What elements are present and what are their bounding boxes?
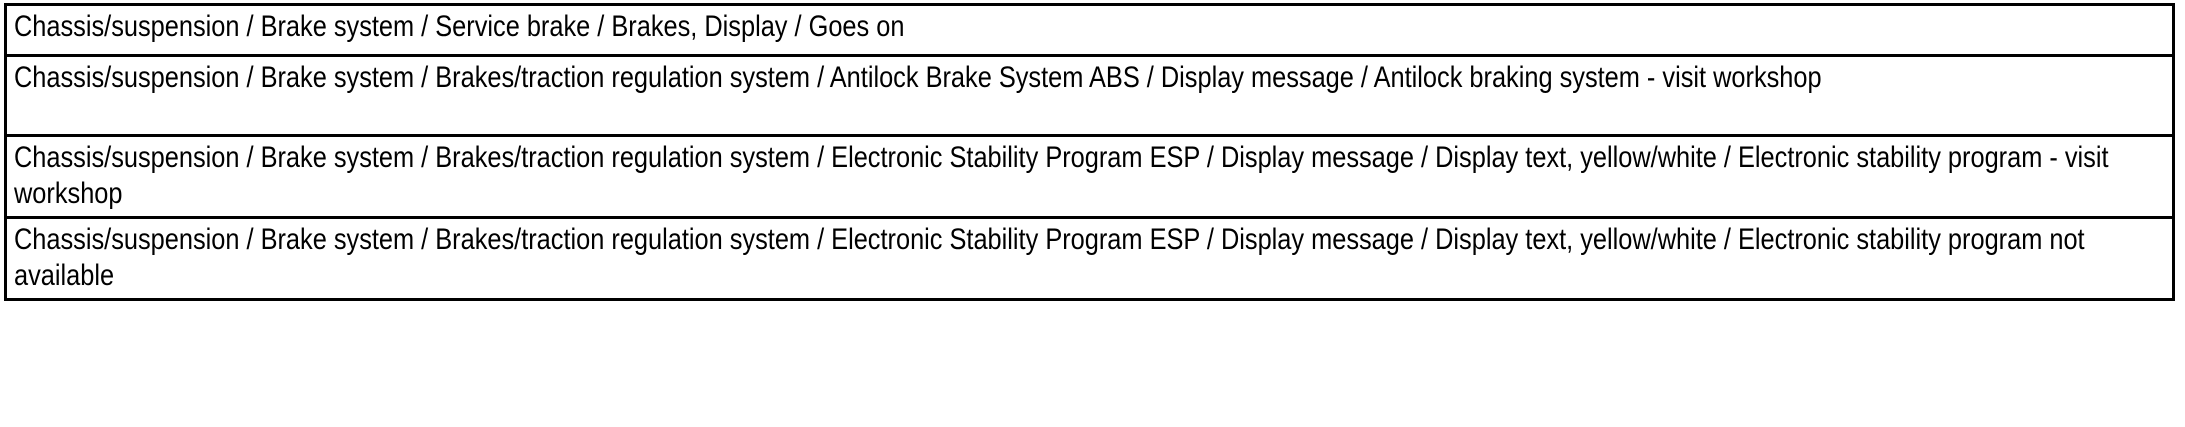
fault-path-table-body: Chassis/suspension / Brake system / Serv… — [6, 5, 2174, 300]
table-row: Chassis/suspension / Brake system / Brak… — [6, 136, 2174, 218]
fault-path-table: Chassis/suspension / Brake system / Serv… — [4, 3, 2175, 301]
fault-path-text: Chassis/suspension / Brake system / Brak… — [14, 140, 2160, 212]
fault-path-text: Chassis/suspension / Brake system / Serv… — [14, 9, 2160, 45]
table-row: Chassis/suspension / Brake system / Brak… — [6, 218, 2174, 300]
fault-path-cell-3: Chassis/suspension / Brake system / Brak… — [6, 136, 2174, 218]
table-row: Chassis/suspension / Brake system / Serv… — [6, 5, 2174, 56]
table-row: Chassis/suspension / Brake system / Brak… — [6, 56, 2174, 136]
fault-path-text: Chassis/suspension / Brake system / Brak… — [14, 60, 2160, 96]
fault-path-cell-2: Chassis/suspension / Brake system / Brak… — [6, 56, 2174, 136]
document-canvas: Chassis/suspension / Brake system / Serv… — [0, 0, 2185, 427]
fault-path-text: Chassis/suspension / Brake system / Brak… — [14, 222, 2160, 294]
fault-path-cell-4: Chassis/suspension / Brake system / Brak… — [6, 218, 2174, 300]
fault-path-cell-1: Chassis/suspension / Brake system / Serv… — [6, 5, 2174, 56]
